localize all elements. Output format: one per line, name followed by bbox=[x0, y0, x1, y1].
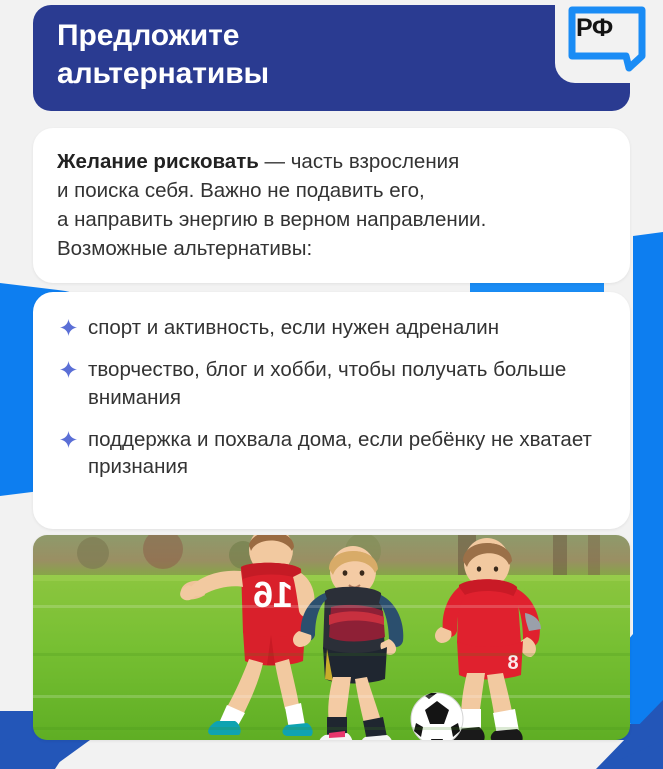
photo-soccer-ball bbox=[411, 693, 463, 740]
list-item: поддержка и похвала дома, если ребёнку н… bbox=[57, 426, 606, 481]
children-playing-soccer-photo: 16 bbox=[33, 535, 630, 740]
sparkle-icon bbox=[60, 319, 77, 336]
header-card: Предложите альтернативы bbox=[33, 5, 630, 111]
rf-logo-text: РФ bbox=[576, 16, 613, 41]
list-item-label: творчество, блог и хобби, чтобы получать… bbox=[88, 358, 566, 408]
rf-logo-badge[interactable]: РФ bbox=[555, 0, 663, 83]
alternatives-card: спорт и активность, если нужен адреналин… bbox=[33, 292, 630, 529]
intro-paragraph: Желание рисковать — часть взросления и п… bbox=[57, 147, 606, 263]
jersey-number: 16 bbox=[253, 574, 293, 615]
alternatives-list: спорт и активность, если нужен адреналин… bbox=[57, 314, 606, 480]
list-item-label: поддержка и похвала дома, если ребёнку н… bbox=[88, 428, 592, 478]
intro-card: Желание рисковать — часть взросления и п… bbox=[33, 128, 630, 283]
page-title: Предложите альтернативы bbox=[57, 17, 537, 93]
poster-root: Предложите альтернативы РФ Желание риско… bbox=[0, 0, 663, 769]
list-item-label: спорт и активность, если нужен адреналин bbox=[88, 316, 499, 339]
intro-lead-phrase: Желание рисковать bbox=[57, 150, 259, 173]
list-item: спорт и активность, если нужен адреналин bbox=[57, 314, 606, 341]
list-item: творчество, блог и хобби, чтобы получать… bbox=[57, 356, 606, 411]
sparkle-icon bbox=[60, 361, 77, 378]
sparkle-icon bbox=[60, 431, 77, 448]
soccer-photo-illustration: 16 bbox=[33, 535, 630, 740]
bottom-band-lower-shape bbox=[0, 738, 663, 769]
